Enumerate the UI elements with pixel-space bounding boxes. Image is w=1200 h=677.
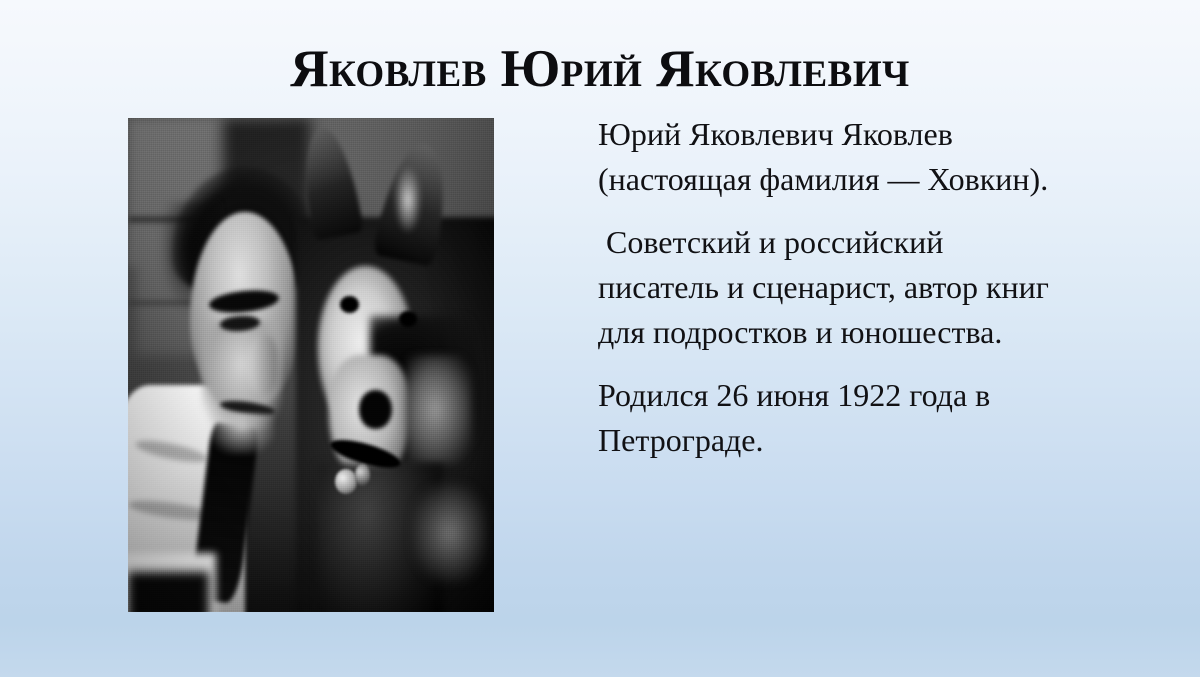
page-title: Яковлев Юрий Яковлевич: [0, 40, 1200, 98]
photo-image: [128, 118, 494, 612]
biography-paragraph-1: Юрий Яковлевич Яковлев (настоящая фамили…: [598, 112, 1068, 202]
portrait-photo: [128, 118, 494, 612]
presentation-slide: Яковлев Юрий Яковлевич: [0, 0, 1200, 677]
biography-paragraph-3: Родился 26 июня 1922 года в Петрограде.: [598, 373, 1068, 463]
biography-paragraph-2: Советский и российский писатель и сценар…: [598, 220, 1068, 355]
biography-text-block: Юрий Яковлевич Яковлев (настоящая фамили…: [598, 112, 1068, 463]
photo-layer-vignette: [128, 118, 494, 612]
